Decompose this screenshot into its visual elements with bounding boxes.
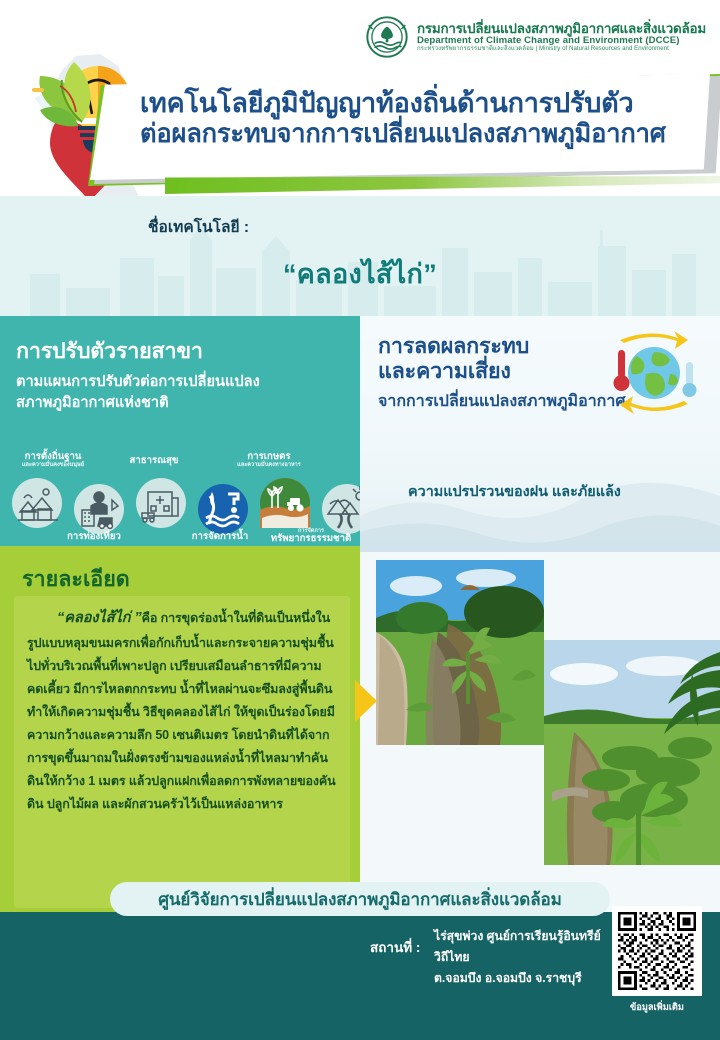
title-banner: เทคโนโลยีภูมิปัญญาท้องถิ่นด้านการปรับตัว… <box>88 74 720 186</box>
poster-root: กรมการเปลี่ยนแปลงสภาพภูมิอากาศและสิ่งแวด… <box>0 0 720 1040</box>
detail-card: “คลองไส้ไก่ ”คือ การขุดร่องน้ำในที่ดินเป… <box>14 596 350 908</box>
footer-org-pill: ศูนย์วิจัยการเปลี่ยนแปลงสภาพภูมิอากาศและ… <box>110 882 610 916</box>
poster-title-line1: เทคโนโลยีภูมิปัญญาท้องถิ่นด้านการปรับตัว <box>140 88 700 120</box>
location-lines: ไร่สุขพ่วง ศูนย์การเรียนรู้อินทรีย์วิถีไ… <box>434 926 604 990</box>
risk-text: ความแปรปรวนของฝน และภัยแล้ง <box>408 480 621 503</box>
adaptation-sub-line2: สภาพภูมิอากาศแห่งชาติ <box>16 393 360 414</box>
photo-canal-crop-rows[interactable] <box>544 640 720 865</box>
crop-field-photo-icon <box>544 640 720 865</box>
adaptation-heading: การปรับตัวรายสาขา <box>16 334 360 368</box>
settlement-icon[interactable] <box>12 478 62 528</box>
qr-code-icon <box>618 912 696 990</box>
canal-photo-icon <box>376 560 544 745</box>
detail-body-text: คือ การขุดร่องน้ำในที่ดินเป็นหนึ่งในรูปแ… <box>27 611 336 811</box>
poster-title-line2: ต่อผลกระทบจากการเปลี่ยนแปลงสภาพภูมิอากาศ <box>140 120 700 150</box>
sector-label-settlement: การตั้งถิ่นฐาน และความมั่นคงของมนุษย์ <box>0 452 106 468</box>
photo-canal-water-channel[interactable] <box>376 560 544 745</box>
dcce-seal-icon <box>366 16 408 58</box>
technology-name: “คลองไส้ไก่” <box>0 252 720 295</box>
detail-term: “คลองไส้ไก่ ” <box>57 610 142 626</box>
agriculture-icon[interactable] <box>260 478 310 528</box>
adaptation-sub-line1: ตามแผนการปรับตัวต่อการเปลี่ยนแปลง <box>16 372 360 393</box>
detail-body: “คลองไส้ไก่ ”คือ การขุดร่องน้ำในที่ดินเป… <box>27 605 337 816</box>
sector-label-natural-resources: การจัดการ ทรัพยากรธรรมชาติ <box>262 528 360 544</box>
sector-label-agriculture: การเกษตร และความมั่นคงทางอาหาร <box>214 452 324 468</box>
detail-section: รายละเอียด “คลองไส้ไก่ ”คือ การขุดร่องน้… <box>0 552 360 920</box>
photo-gallery <box>360 552 720 920</box>
location-label: สถานที่ : <box>370 936 420 958</box>
sector-label-tourism: การท่องเที่ยว <box>46 532 142 542</box>
technology-name-band: ชื่อเทคโนโลยี : “คลองไส้ไก่” <box>0 196 720 316</box>
location-line1: ไร่สุขพ่วง ศูนย์การเรียนรู้อินทรีย์วิถีไ… <box>434 926 604 968</box>
poster-header: กรมการเปลี่ยนแปลงสภาพภูมิอากาศและสิ่งแวด… <box>0 0 720 200</box>
mitigation-panel: การลดผลกระทบ และความเสี่ยง จากการเปลี่ยน… <box>360 316 720 552</box>
globe-thermometer-icon <box>602 330 706 416</box>
location-footer-bar: ศูนย์วิจัยการเปลี่ยนแปลงสภาพภูมิอากาศและ… <box>0 920 720 1040</box>
detail-heading: รายละเอียด <box>22 562 360 596</box>
technology-label: ชื่อเทคโนโลยี : <box>148 214 249 239</box>
sector-label-public-health: สาธารณสุข <box>108 456 200 466</box>
sector-label-water: การจัดการน้ำ <box>172 532 268 542</box>
qr-code[interactable] <box>612 906 702 996</box>
ministry-line: กระทรวงทรัพยากรธรรมชาติและสิ่งแวดล้อม | … <box>417 46 706 53</box>
sector-icons-row: การตั้งถิ่นฐาน และความมั่นคงของมนุษย์ สา… <box>0 454 360 554</box>
qr-caption: ข้อมูลเพิ่มเติม <box>612 1000 702 1015</box>
location-line2: ต.จอมบึง อ.จอมบึง จ.ราชบุรี <box>434 968 604 989</box>
tourism-icon[interactable] <box>74 484 124 534</box>
org-name-th: กรมการเปลี่ยนแปลงสภาพภูมิอากาศและสิ่งแวด… <box>417 21 706 36</box>
water-management-icon[interactable] <box>198 484 248 534</box>
poster-title: เทคโนโลยีภูมิปัญญาท้องถิ่นด้านการปรับตัว… <box>140 88 700 149</box>
public-health-icon[interactable] <box>136 478 186 528</box>
dcce-logo: กรมการเปลี่ยนแปลงสภาพภูมิอากาศและสิ่งแวด… <box>366 16 706 58</box>
yellow-arrow-icon <box>355 680 377 722</box>
